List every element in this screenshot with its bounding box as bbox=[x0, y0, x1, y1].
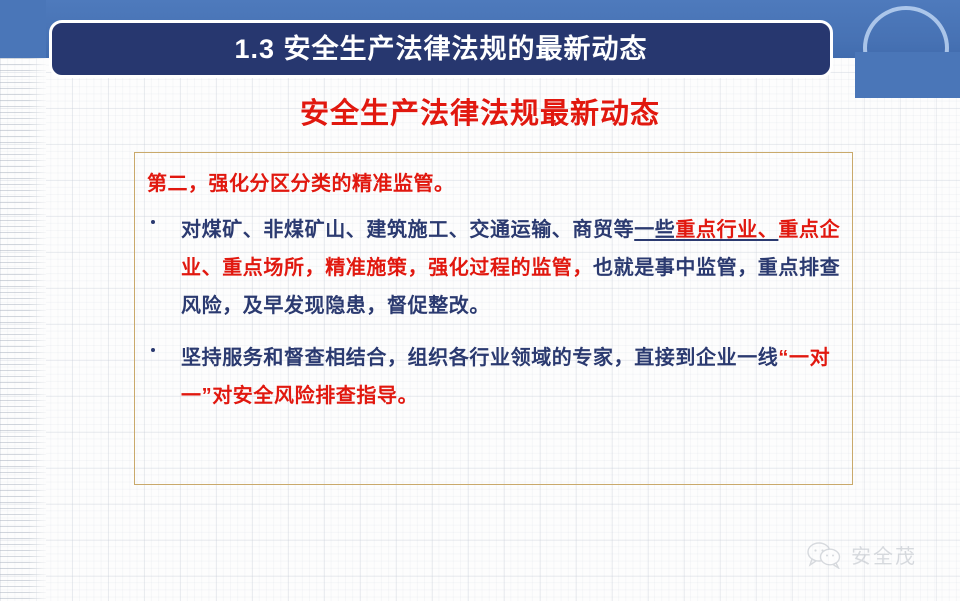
bullet-text-segment: 重点行业、 bbox=[675, 219, 778, 241]
bullet-dot-icon bbox=[151, 348, 155, 352]
bullet-text-segment: 坚持服务和督查相结合，组织各行业领域的专家，直接到企业一线 bbox=[181, 347, 778, 369]
bullet-text-segment: 一些 bbox=[634, 219, 675, 241]
bullet-text-segment: 对煤矿、非煤矿山、建筑施工、交通运输、商贸等 bbox=[181, 219, 634, 241]
slide-subtitle: 安全生产法律法规最新动态 bbox=[0, 97, 960, 132]
watermark-label: 安全茂 bbox=[851, 540, 917, 569]
bullet-item: 坚持服务和督查相结合，组织各行业领域的专家，直接到企业一线“一对一”对安全风险排… bbox=[147, 339, 844, 415]
lead-statement: 第二，强化分区分类的精准监管。 bbox=[147, 167, 455, 196]
bullet-dot-icon bbox=[151, 220, 155, 224]
watermark: 安全茂 bbox=[806, 540, 917, 569]
slide-title-bar: 1.3 安全生产法律法规的最新动态 bbox=[49, 20, 833, 78]
wechat-bubbles-icon bbox=[806, 541, 842, 569]
left-stripes-fade bbox=[0, 58, 46, 601]
slide-canvas: 1.3 安全生产法律法规的最新动态 安全生产法律法规最新动态 第二，强化分区分类… bbox=[0, 0, 960, 601]
left-blue-block bbox=[0, 0, 46, 58]
bullet-text: 对煤矿、非煤矿山、建筑施工、交通运输、商贸等一些重点行业、重点企业、重点场所，精… bbox=[181, 211, 844, 325]
page-title: 1.3 安全生产法律法规的最新动态 bbox=[234, 36, 647, 63]
content-box: 第二，强化分区分类的精准监管。 对煤矿、非煤矿山、建筑施工、交通运输、商贸等一些… bbox=[134, 152, 853, 485]
bullet-item: 对煤矿、非煤矿山、建筑施工、交通运输、商贸等一些重点行业、重点企业、重点场所，精… bbox=[147, 211, 844, 325]
bullet-text: 坚持服务和督查相结合，组织各行业领域的专家，直接到企业一线“一对一”对安全风险排… bbox=[181, 339, 844, 415]
crescent-arc-mask bbox=[855, 52, 960, 98]
bullet-list: 对煤矿、非煤矿山、建筑施工、交通运输、商贸等一些重点行业、重点企业、重点场所，精… bbox=[147, 211, 844, 429]
